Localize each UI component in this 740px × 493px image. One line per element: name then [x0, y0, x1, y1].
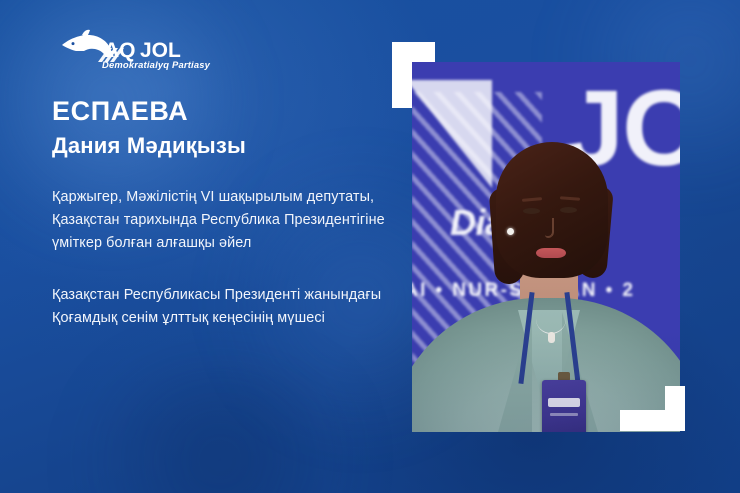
subject-earring — [507, 228, 514, 235]
photo-zone: JO Dialyq P AI • NUR-SULTAN • 2 — [0, 0, 740, 493]
badge-subtext — [550, 413, 578, 416]
portrait-photo: JO Dialyq P AI • NUR-SULTAN • 2 — [412, 62, 680, 432]
photo-subject — [412, 62, 680, 432]
subject-nose — [545, 218, 554, 238]
subject-pendant — [548, 332, 555, 343]
subject-eye-left — [523, 208, 540, 214]
badge-logo-icon — [548, 398, 580, 407]
corner-bracket-top-left — [392, 42, 435, 63]
subject-lips — [536, 248, 566, 258]
corner-bracket-bottom-right — [665, 386, 685, 431]
conference-badge — [542, 380, 586, 432]
profile-card: AQ JOL Demokratialyq Partiasy ЕСПАЕВА Да… — [0, 0, 740, 493]
subject-eye-right — [560, 207, 577, 213]
